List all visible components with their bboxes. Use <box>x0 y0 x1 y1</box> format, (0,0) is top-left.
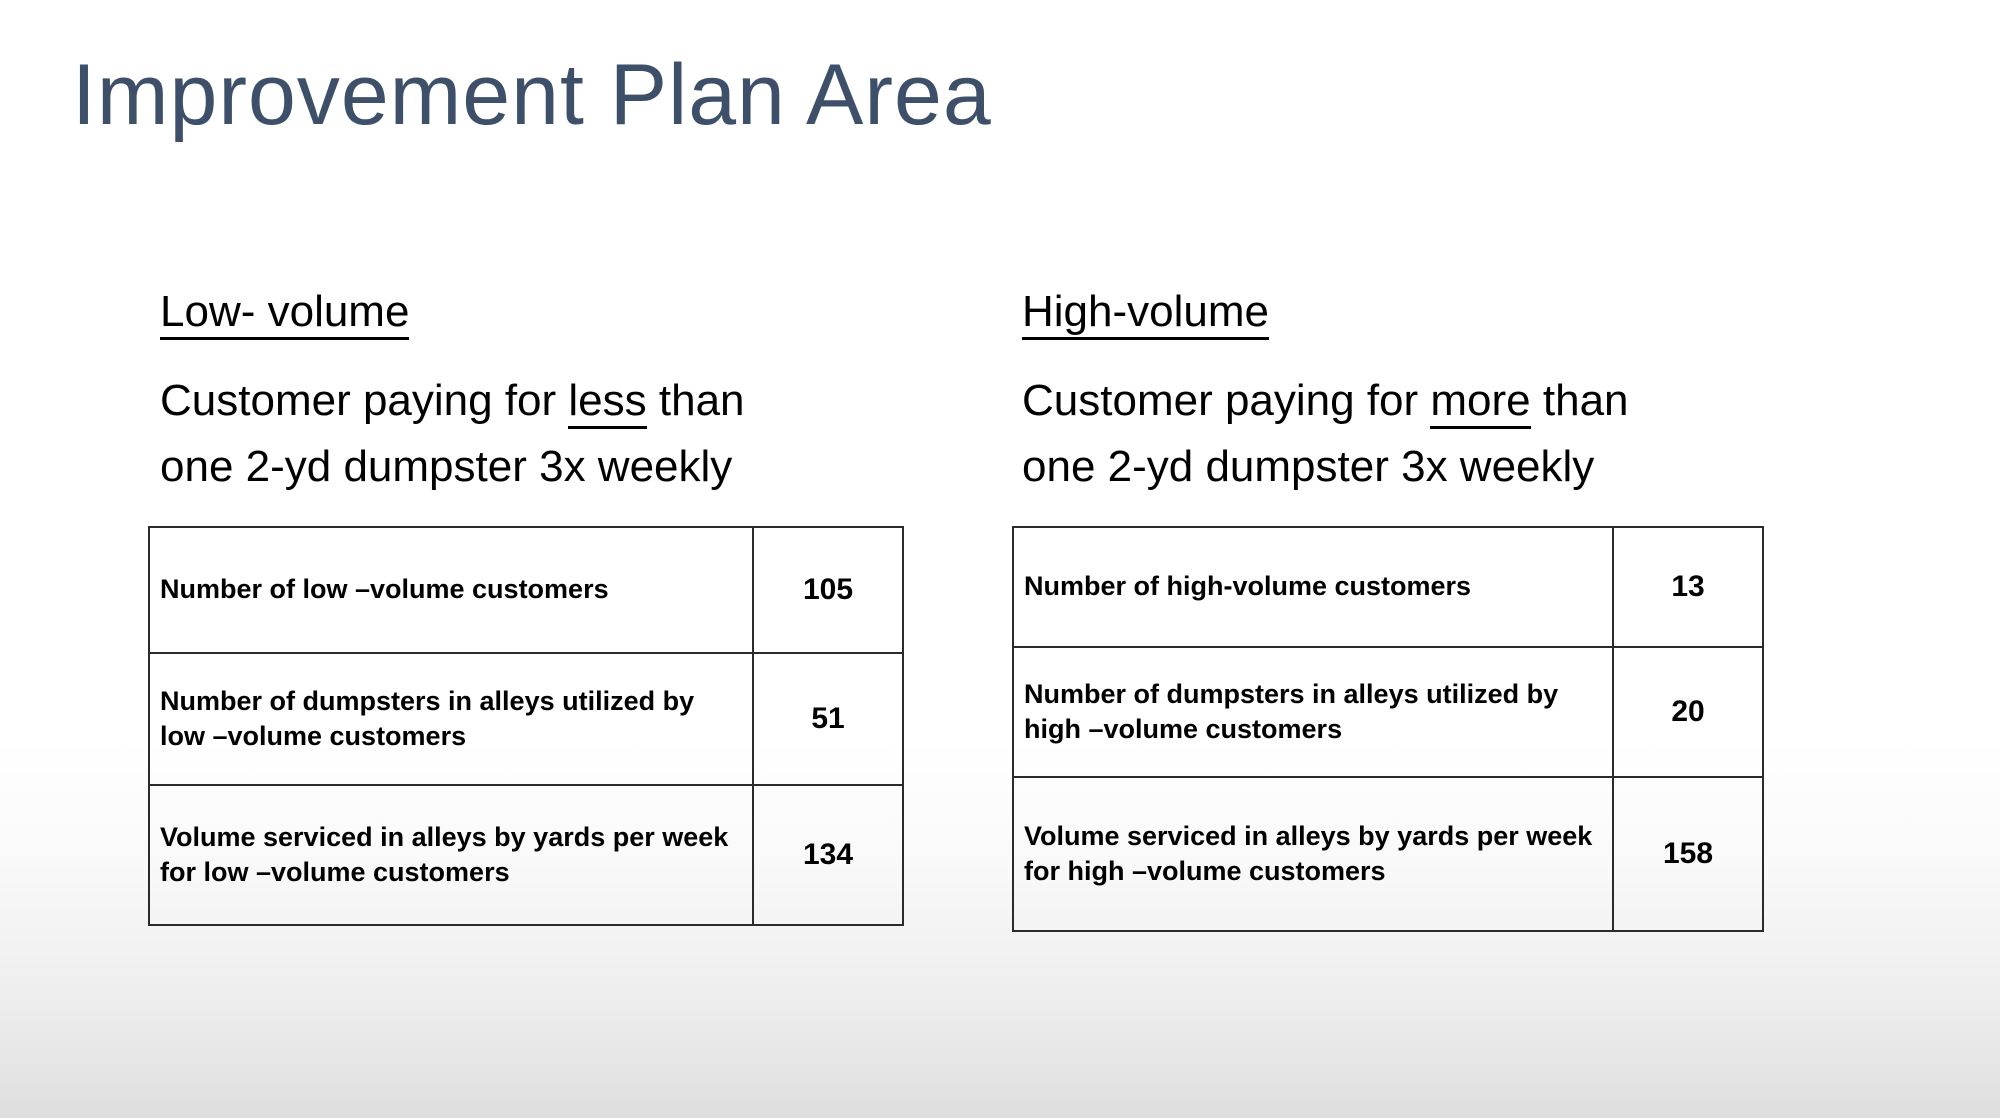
table-high-volume: Number of high-volume customers 13 Numbe… <box>1012 526 1764 932</box>
table-low-volume: Number of low –volume customers 105 Numb… <box>148 526 904 926</box>
description-suffix-low: than <box>647 376 745 425</box>
table-cell-label: Number of high-volume customers <box>1013 527 1613 647</box>
table-row: Number of low –volume customers 105 <box>149 527 903 653</box>
table-row: Number of high-volume customers 13 <box>1013 527 1763 647</box>
column-description-high-volume: Customer paying for more than one 2-yd d… <box>1022 368 1782 500</box>
description-suffix-high: than <box>1531 376 1629 425</box>
description-prefix-low: Customer paying for <box>160 376 568 425</box>
description-line2-high: one 2-yd dumpster 3x weekly <box>1022 442 1594 491</box>
table-row: Number of dumpsters in alleys utilized b… <box>149 653 903 785</box>
table-cell-value: 158 <box>1613 777 1763 931</box>
column-description-low-volume: Customer paying for less than one 2-yd d… <box>160 368 920 500</box>
table-cell-value: 13 <box>1613 527 1763 647</box>
table-cell-label: Number of low –volume customers <box>149 527 753 653</box>
table-cell-value: 105 <box>753 527 903 653</box>
description-prefix-high: Customer paying for <box>1022 376 1430 425</box>
table-cell-value: 51 <box>753 653 903 785</box>
table-cell-value: 20 <box>1613 647 1763 777</box>
table-row: Volume serviced in alleys by yards per w… <box>149 785 903 925</box>
column-heading-low-volume: Low- volume <box>160 290 409 340</box>
table-cell-label: Number of dumpsters in alleys utilized b… <box>149 653 753 785</box>
page-title: Improvement Plan Area <box>72 50 992 140</box>
table-cell-value: 134 <box>753 785 903 925</box>
slide-canvas: Improvement Plan Area Low- volume Custom… <box>0 0 2000 1118</box>
table-cell-label: Volume serviced in alleys by yards per w… <box>1013 777 1613 931</box>
table-cell-label: Number of dumpsters in alleys utilized b… <box>1013 647 1613 777</box>
column-high-volume: High-volume Customer paying for more tha… <box>1022 290 1782 932</box>
description-emphasis-low: less <box>568 376 646 429</box>
column-low-volume: Low- volume Customer paying for less tha… <box>160 290 920 926</box>
column-heading-high-volume: High-volume <box>1022 290 1269 340</box>
table-cell-label: Volume serviced in alleys by yards per w… <box>149 785 753 925</box>
table-row: Volume serviced in alleys by yards per w… <box>1013 777 1763 931</box>
table-row: Number of dumpsters in alleys utilized b… <box>1013 647 1763 777</box>
description-emphasis-high: more <box>1430 376 1530 429</box>
description-line2-low: one 2-yd dumpster 3x weekly <box>160 442 732 491</box>
